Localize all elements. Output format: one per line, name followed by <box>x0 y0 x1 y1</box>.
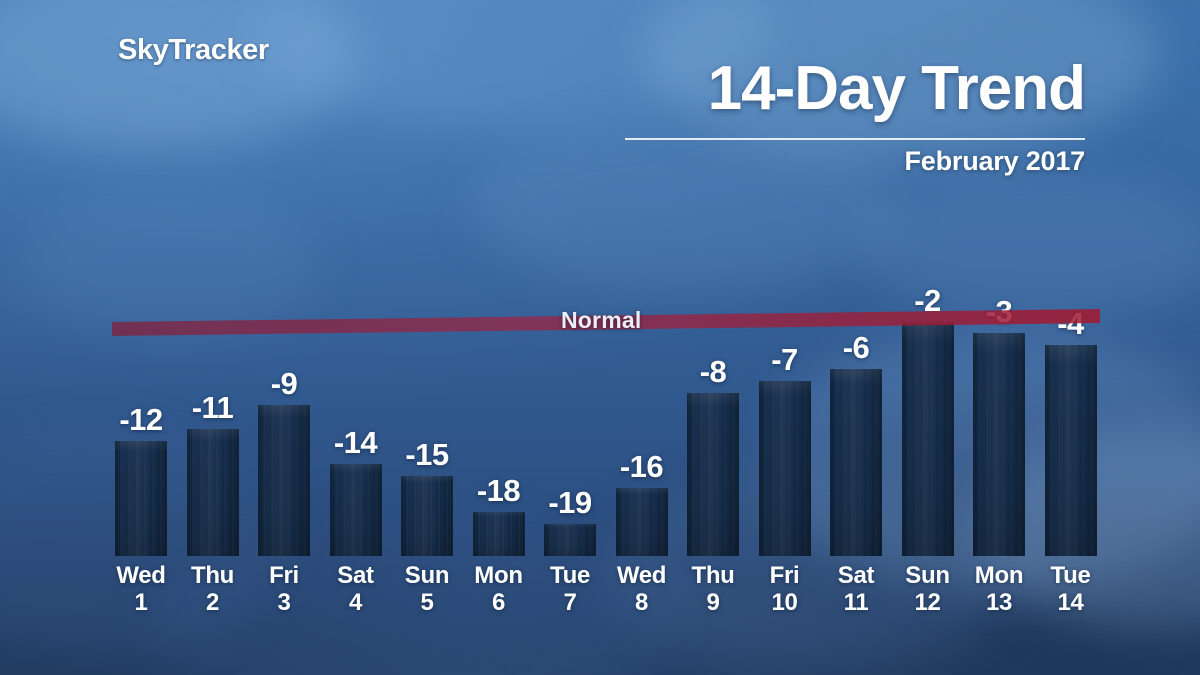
axis-weekday: Sat <box>838 562 874 589</box>
bar-chart: -12Wed1-11Thu2-9Fri3-14Sat4-15Sun5-18Mon… <box>0 0 1200 675</box>
bar-value-label: -16 <box>597 449 687 485</box>
chart-bar <box>830 369 882 556</box>
axis-date-number: 14 <box>1021 589 1121 616</box>
axis-weekday: Sun <box>905 562 949 589</box>
bar-texture <box>115 441 167 556</box>
chart-bar <box>473 512 525 556</box>
bar-texture <box>473 512 525 556</box>
bar-texture <box>1045 345 1097 556</box>
bar-value-label: -4 <box>1026 306 1116 342</box>
bar-texture <box>830 369 882 556</box>
axis-weekday: Wed <box>617 562 666 589</box>
bar-texture <box>902 322 954 556</box>
chart-bar <box>115 441 167 556</box>
bar-value-label: -9 <box>239 366 329 402</box>
axis-weekday: Thu <box>691 562 734 589</box>
axis-weekday: Mon <box>975 562 1023 589</box>
weather-graphic: SkyTracker 14-Day Trend February 2017 -1… <box>0 0 1200 675</box>
axis-weekday: Tue <box>1051 562 1091 589</box>
chart-bar <box>616 488 668 556</box>
chart-bar <box>544 524 596 556</box>
bar-texture <box>973 333 1025 556</box>
axis-weekday: Wed <box>116 562 165 589</box>
chart-bar <box>187 429 239 556</box>
chart-bar <box>687 393 739 556</box>
bar-texture <box>544 524 596 556</box>
axis-weekday: Sun <box>405 562 449 589</box>
axis-weekday: Thu <box>191 562 234 589</box>
axis-weekday: Sat <box>337 562 373 589</box>
chart-bar <box>1045 345 1097 556</box>
axis-weekday: Tue <box>550 562 590 589</box>
bar-value-label: -19 <box>525 485 615 521</box>
chart-bar <box>330 464 382 556</box>
chart-bar <box>902 322 954 556</box>
axis-weekday: Mon <box>474 562 522 589</box>
bar-texture <box>330 464 382 556</box>
chart-bar <box>973 333 1025 556</box>
axis-weekday: Fri <box>770 562 800 589</box>
chart-bar <box>258 405 310 556</box>
chart-bar <box>401 476 453 556</box>
chart-bar <box>759 381 811 556</box>
axis-day-label: Tue14 <box>1021 562 1121 616</box>
axis-weekday: Fri <box>269 562 299 589</box>
bar-texture <box>759 381 811 556</box>
bar-texture <box>401 476 453 556</box>
bar-texture <box>187 429 239 556</box>
bar-value-label: -6 <box>811 330 901 366</box>
bar-texture <box>687 393 739 556</box>
bar-texture <box>258 405 310 556</box>
bar-texture <box>616 488 668 556</box>
bar-value-label: -15 <box>382 437 472 473</box>
